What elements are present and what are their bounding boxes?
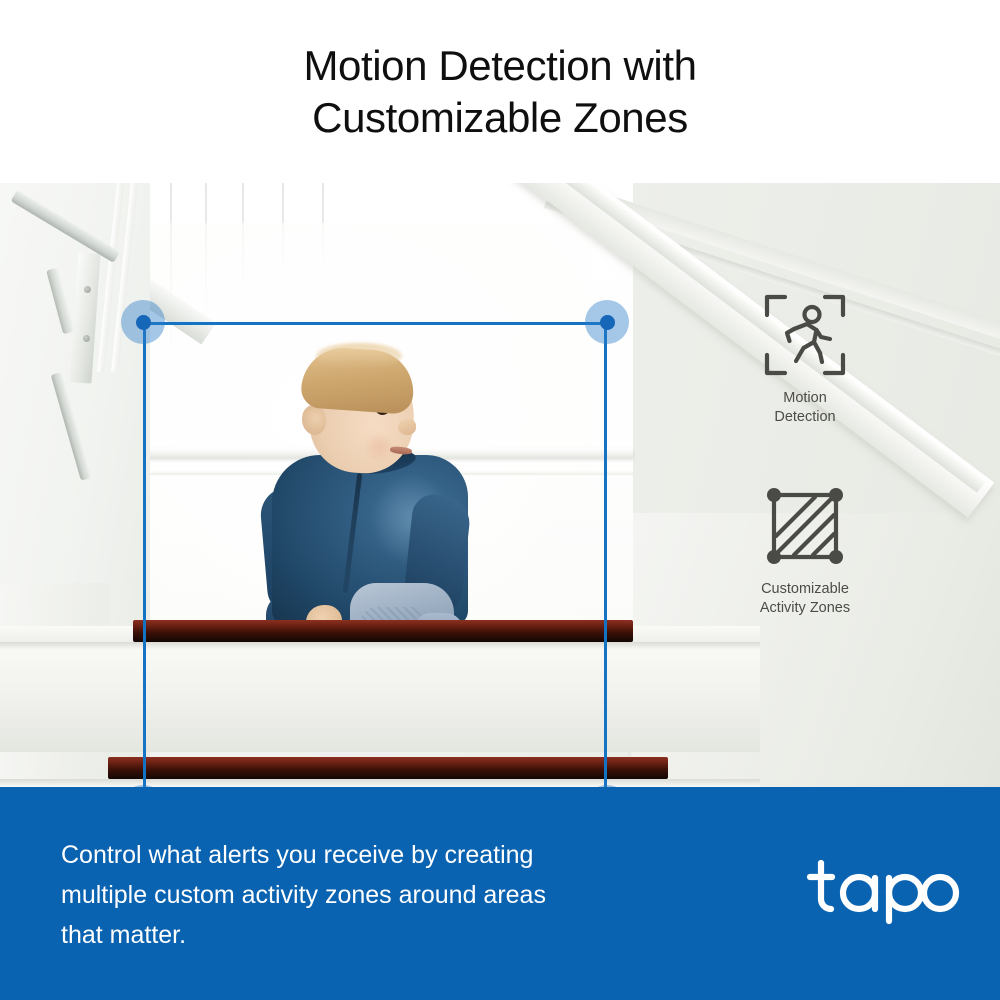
scene-photo: Motion Detection [0, 183, 1000, 787]
feature-motion-detection: Motion Detection [710, 293, 900, 427]
footer-caption-line-3: that matter. [61, 915, 681, 955]
feature-list: Motion Detection [710, 293, 900, 618]
zone-handle-top-left[interactable] [121, 300, 165, 344]
tapo-logo [800, 855, 960, 925]
stairwell-photo: Motion Detection [0, 183, 1000, 787]
promotional-banner: Motion Detection with Customizable Zones [0, 0, 1000, 1000]
bracket-screw-2 [83, 335, 90, 342]
motion-detection-icon [763, 293, 847, 377]
header: Motion Detection with Customizable Zones [0, 0, 1000, 183]
customizable-activity-zones-icon [763, 484, 847, 568]
feature-label-line-2: Detection [710, 408, 900, 427]
page-title-line-2: Customizable Zones [312, 92, 688, 144]
activity-zone-rectangle[interactable] [143, 322, 607, 787]
footer-caption-line-1: Control what alerts you receive by creat… [61, 835, 681, 875]
bracket-screw-1 [84, 286, 91, 293]
feature-label-line-1: Motion [710, 389, 900, 408]
feature-label-line-2: Activity Zones [710, 599, 900, 618]
footer-caption-line-2: multiple custom activity zones around ar… [61, 875, 681, 915]
footer-caption: Control what alerts you receive by creat… [61, 835, 681, 955]
feature-label-line-1: Customizable [710, 580, 900, 599]
feature-customizable-activity-zones: Customizable Activity Zones [710, 484, 900, 618]
page-title-line-1: Motion Detection with [303, 40, 696, 92]
zone-handle-top-right[interactable] [585, 300, 629, 344]
